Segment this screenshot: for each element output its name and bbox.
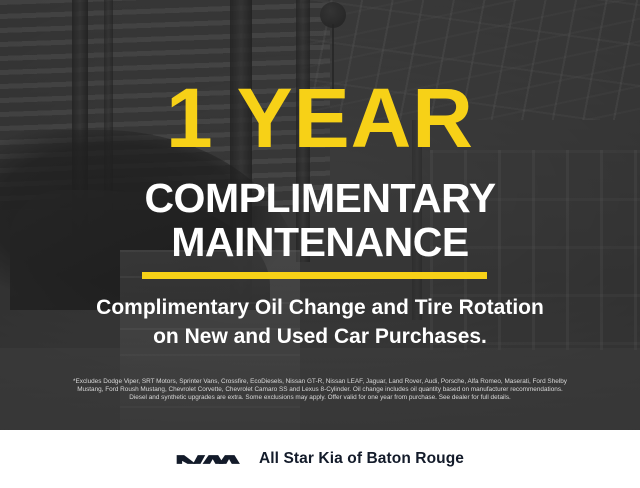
- hero-content: 1 YEAR COMPLIMENTARY MAINTENANCE Complim…: [0, 0, 640, 430]
- offer-description-line-2: on New and Used Car Purchases.: [0, 324, 640, 349]
- disclaimer-text: *Excludes Dodge Viper, SRT Motors, Sprin…: [14, 378, 626, 403]
- kia-logo: [176, 451, 244, 468]
- headline-year: 1 YEAR: [0, 76, 640, 160]
- disclaimer-line-2: Mustang, Ford Roush Mustang, Chevrolet C…: [14, 386, 626, 394]
- headline-maintenance: MAINTENANCE: [0, 222, 640, 263]
- yellow-divider-rule: [142, 272, 487, 279]
- hero-section: 1 YEAR COMPLIMENTARY MAINTENANCE Complim…: [0, 0, 640, 430]
- headline-complimentary: COMPLIMENTARY: [0, 178, 640, 219]
- disclaimer-line-3: Diesel and synthetic upgrades are extra.…: [14, 394, 626, 402]
- disclaimer-line-1: *Excludes Dodge Viper, SRT Motors, Sprin…: [14, 378, 626, 386]
- footer-bar: All Star Kia of Baton Rouge: [0, 430, 640, 488]
- dealer-name: All Star Kia of Baton Rouge: [259, 450, 464, 468]
- promotional-banner: 1 YEAR COMPLIMENTARY MAINTENANCE Complim…: [0, 0, 640, 488]
- offer-description-line-1: Complimentary Oil Change and Tire Rotati…: [0, 295, 640, 320]
